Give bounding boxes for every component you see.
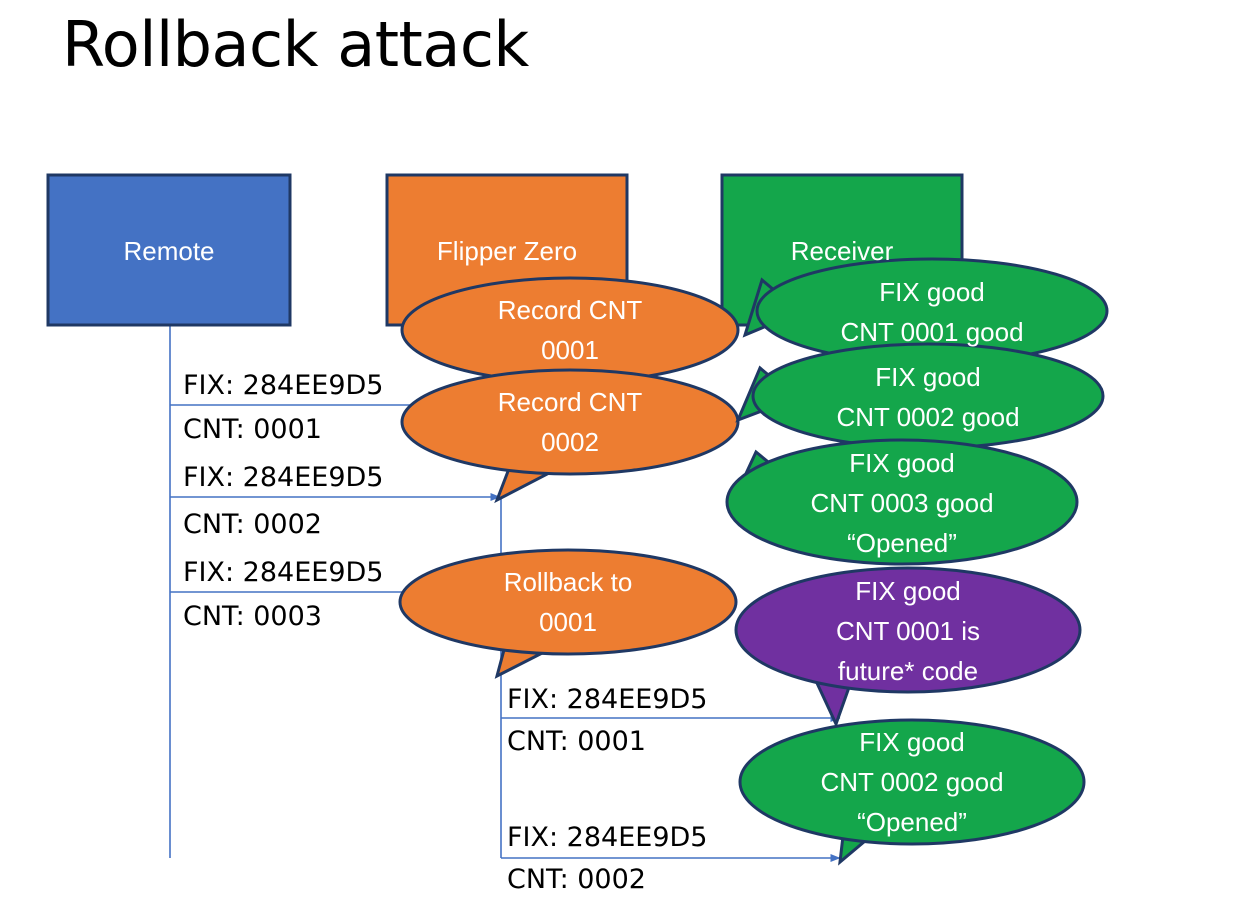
message-fix-m5: FIX: 284EE9D5 <box>507 822 707 853</box>
callout-receiver-r5 <box>740 720 1084 862</box>
message-fix-m3: FIX: 284EE9D5 <box>183 557 383 588</box>
message-fix-m2: FIX: 284EE9D5 <box>183 462 383 493</box>
callout-receiver-r3 <box>727 440 1077 564</box>
message-fix-m4: FIX: 284EE9D5 <box>507 684 707 715</box>
message-fix-m1: FIX: 284EE9D5 <box>183 370 383 401</box>
callout-receiver-r2 <box>738 344 1103 448</box>
slide-canvas: Rollback attack <box>0 0 1233 898</box>
lane-label-receiver: Receiver <box>722 236 962 267</box>
callout-receiver-r4 <box>736 568 1080 724</box>
lane-label-remote: Remote <box>48 236 290 267</box>
diagram-canvas <box>0 0 1233 898</box>
callout-flipper-f1 <box>402 278 738 382</box>
callout-flipper-f3 <box>400 550 736 676</box>
message-cnt-m2: CNT: 0002 <box>183 509 322 540</box>
message-cnt-m3: CNT: 0003 <box>183 601 322 632</box>
message-cnt-m5: CNT: 0002 <box>507 864 646 895</box>
lane-label-flipper: Flipper Zero <box>387 236 627 267</box>
message-cnt-m1: CNT: 0001 <box>183 414 322 445</box>
message-cnt-m4: CNT: 0001 <box>507 726 646 757</box>
callout-flipper-f2 <box>402 370 738 500</box>
